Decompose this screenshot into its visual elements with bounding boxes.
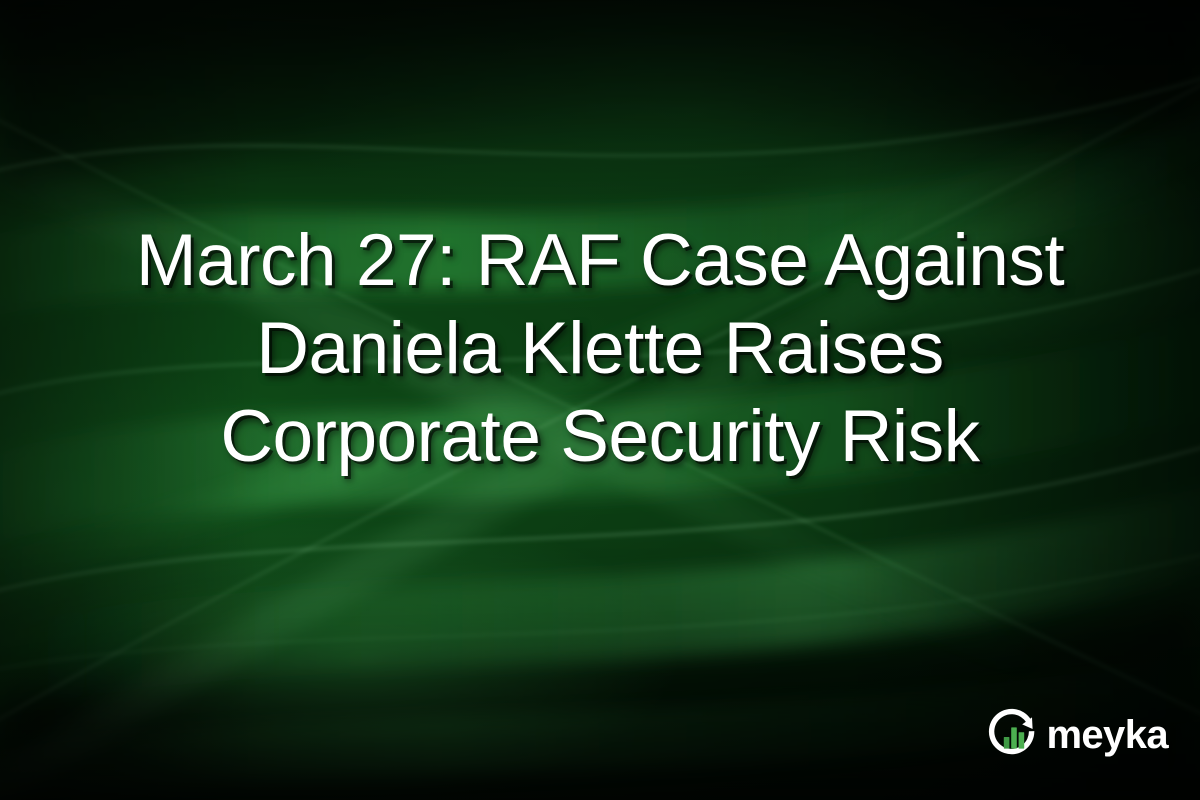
meyka-logo[interactable]: meyka (988, 708, 1168, 760)
headline-line-1: March 27: RAF Case Against (48, 217, 1152, 305)
headline-line-3: Corporate Security Risk (48, 393, 1152, 481)
logo-wordmark: meyka (1046, 715, 1168, 755)
headline-title: March 27: RAF Case Against Daniela Klett… (0, 217, 1200, 481)
headline-line-2: Daniela Klette Raises (48, 305, 1152, 393)
article-banner: March 27: RAF Case Against Daniela Klett… (0, 0, 1200, 800)
circular-arrow-bar-chart-icon (988, 708, 1040, 760)
